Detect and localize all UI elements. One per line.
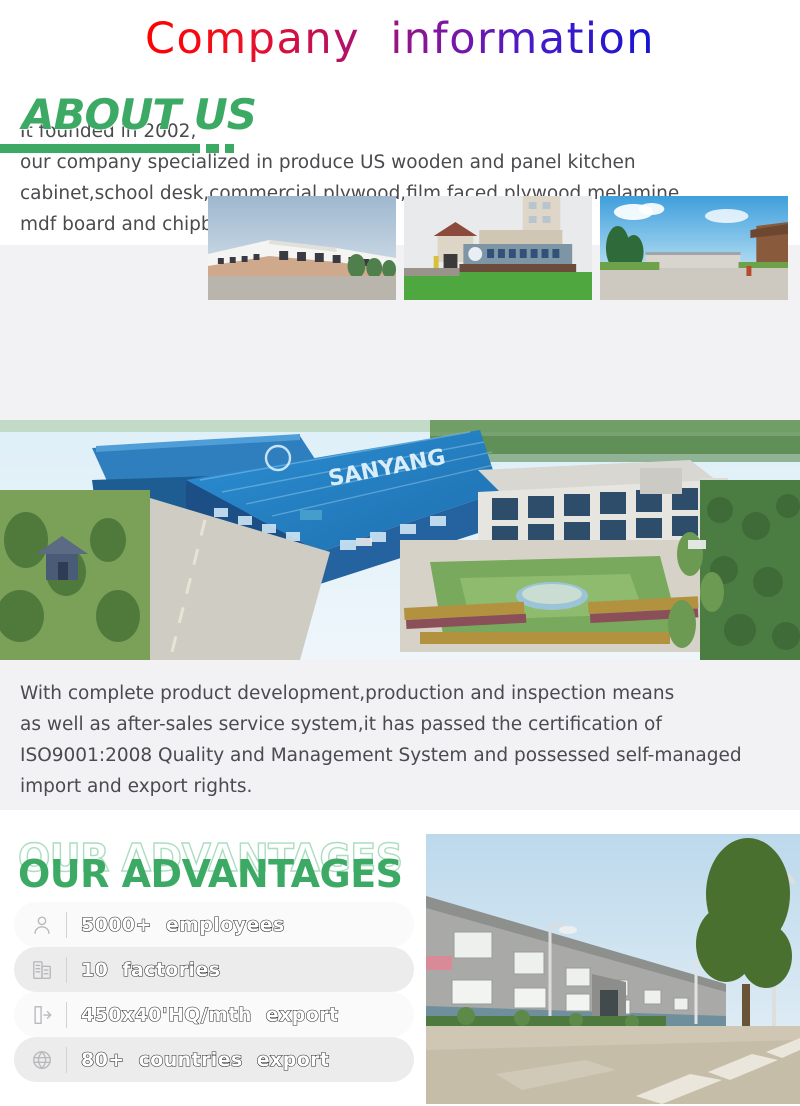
advantages-left-column: OUR ADVANTAGES OUR ADVANTAGES 5000+ empl… xyxy=(0,834,425,1104)
list-item[interactable]: 10 factories xyxy=(14,947,414,992)
section-divider-gap xyxy=(0,810,800,834)
about-heading: ABOUT US xyxy=(22,90,256,139)
list-item[interactable]: 450x40'HQ/mth export xyxy=(14,992,414,1037)
workshop-street-photo xyxy=(426,834,800,1104)
certification-line-3: ISO9001:2008 Quality and Management Syst… xyxy=(20,740,780,771)
factory-entrance-landscape-photo xyxy=(600,196,788,300)
certification-line-2: as well as after-sales service system,it… xyxy=(20,709,780,740)
page-title: Company information xyxy=(145,14,655,64)
about-heading-rule xyxy=(0,144,200,153)
about-heading-rule-dash-1 xyxy=(206,144,219,153)
advantages-heading: OUR ADVANTAGES xyxy=(18,852,403,896)
about-section: ABOUT US xyxy=(0,78,800,340)
export-icon xyxy=(26,1000,58,1030)
factory-exterior-photo xyxy=(208,196,396,300)
certification-line-4: import and export rights. xyxy=(20,771,780,802)
company-gate-sign-photo xyxy=(404,196,592,300)
certification-line-1: With complete product development,produc… xyxy=(20,678,780,709)
list-item-label: 5000+ employees xyxy=(81,914,285,936)
list-item[interactable]: 80+ countries export xyxy=(14,1037,414,1082)
user-icon xyxy=(26,910,58,940)
advantages-heading-wrap: OUR ADVANTAGES OUR ADVANTAGES xyxy=(18,834,425,900)
list-item-label: 450x40'HQ/mth export xyxy=(81,1004,338,1026)
list-item-divider xyxy=(66,912,67,938)
about-photo-strip xyxy=(208,196,788,300)
list-item-label: 10 factories xyxy=(81,959,220,981)
page-title-bar: Company information xyxy=(0,0,800,78)
building-icon xyxy=(26,955,58,985)
list-item-divider xyxy=(66,957,67,983)
list-item-label: 80+ countries export xyxy=(81,1049,329,1071)
certification-paragraph: With complete product development,produc… xyxy=(20,678,780,802)
advantages-section: OUR ADVANTAGES OUR ADVANTAGES 5000+ empl… xyxy=(0,834,800,1104)
advantages-list: 5000+ employees 10 factories xyxy=(14,902,414,1082)
list-item-divider xyxy=(66,1047,67,1073)
about-heading-rule-dash-2 xyxy=(225,144,234,153)
certification-panel: With complete product development,produc… xyxy=(0,660,800,810)
list-item[interactable]: 5000+ employees xyxy=(14,902,414,947)
list-item-divider xyxy=(66,1002,67,1028)
globe-icon xyxy=(26,1045,58,1075)
